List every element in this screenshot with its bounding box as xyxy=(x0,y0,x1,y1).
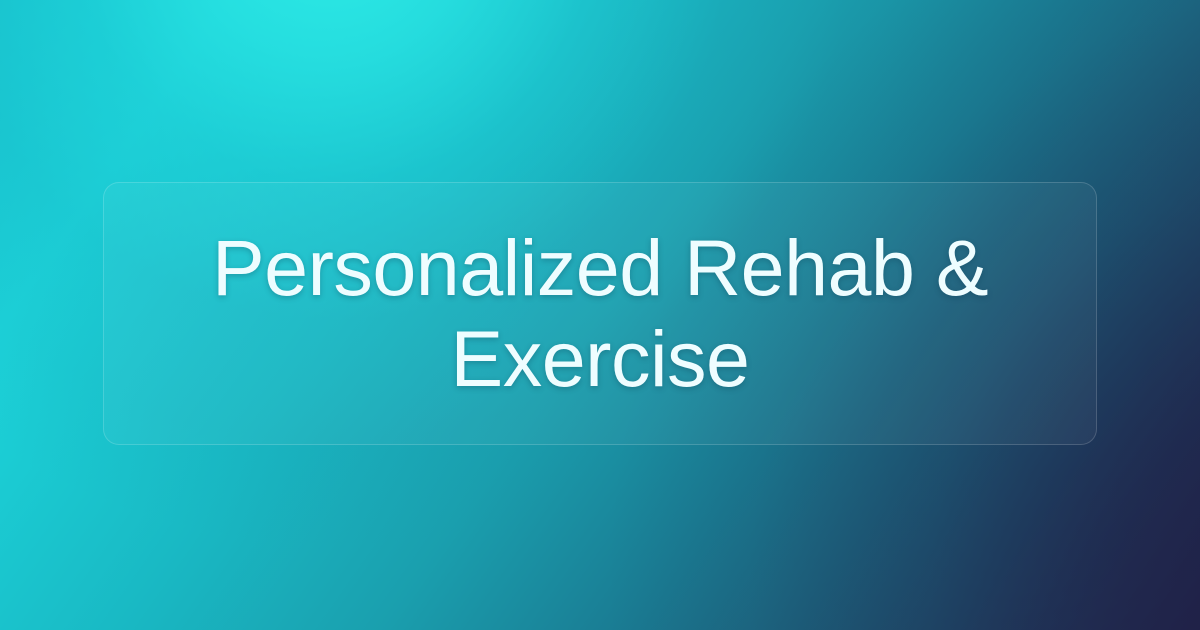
banner-root: Personalized Rehab & Exercise xyxy=(0,0,1200,630)
banner-title: Personalized Rehab & Exercise xyxy=(185,223,1015,403)
title-card: Personalized Rehab & Exercise xyxy=(103,182,1097,445)
